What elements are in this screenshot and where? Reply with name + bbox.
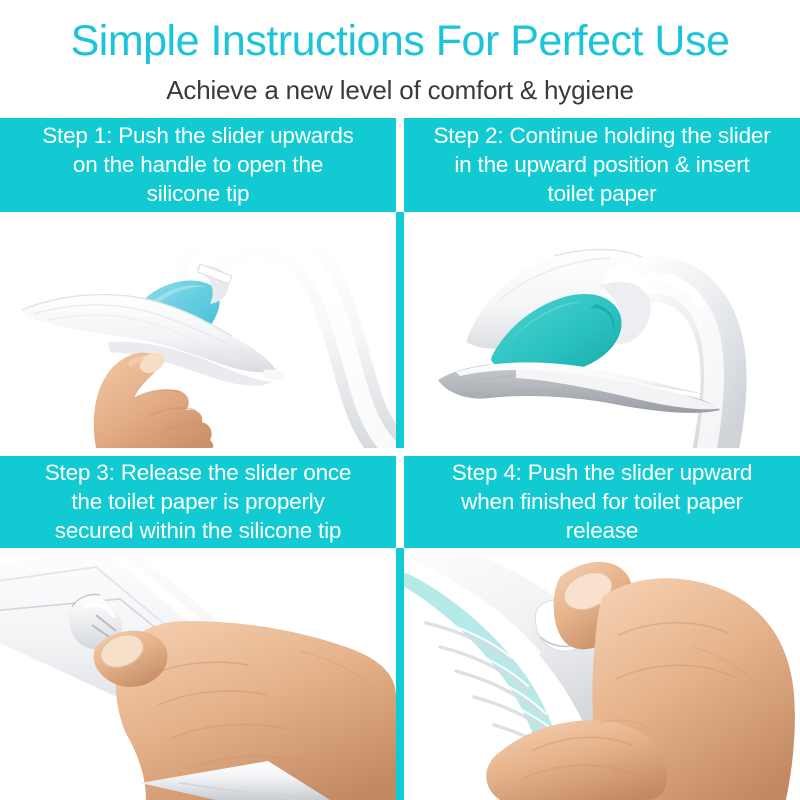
step-1-photo <box>0 220 396 448</box>
step-1-text: Step 1: Push the slider upwards on the h… <box>42 121 353 208</box>
step-4-photo <box>404 555 800 800</box>
step-4-banner: Step 4: Push the slider upward when fini… <box>404 456 800 548</box>
step-3-banner: Step 3: Release the slider once the toil… <box>0 456 396 548</box>
step-2-text: Step 2: Continue holding the slider in t… <box>434 121 771 208</box>
step-1-banner: Step 1: Push the slider upwards on the h… <box>0 118 396 212</box>
step-2-banner: Step 2: Continue holding the slider in t… <box>404 118 800 212</box>
step-2-photo <box>404 220 800 448</box>
step-3-text: Step 3: Release the slider once the toil… <box>45 458 352 545</box>
step-2-illustration <box>404 220 800 448</box>
step-3-photo <box>0 555 396 800</box>
page-subtitle: Achieve a new level of comfort & hygiene <box>0 74 800 106</box>
step-1-illustration <box>0 220 396 448</box>
page-title: Simple Instructions For Perfect Use <box>0 16 800 66</box>
infographic-page: Simple Instructions For Perfect Use Achi… <box>0 0 800 800</box>
step-4-image <box>404 555 800 800</box>
step-3-image <box>0 555 396 800</box>
step-4-text: Step 4: Push the slider upward when fini… <box>452 458 752 545</box>
step-3-illustration <box>0 555 396 800</box>
step-4-banner-bg: Step 4: Push the slider upward when fini… <box>404 456 800 548</box>
vertical-divider-gap-top <box>396 118 404 212</box>
step-3-banner-bg: Step 3: Release the slider once the toil… <box>0 456 396 548</box>
step-1-image <box>0 220 396 448</box>
step-2-banner-bg: Step 2: Continue holding the slider in t… <box>404 118 800 212</box>
vertical-divider-gap-middle <box>396 448 404 548</box>
step-4-illustration <box>404 555 800 800</box>
step-2-image <box>404 220 800 448</box>
steps-grid: Step 1: Push the slider upwards on the h… <box>0 118 800 800</box>
step-1-banner-bg: Step 1: Push the slider upwards on the h… <box>0 118 396 212</box>
header: Simple Instructions For Perfect Use Achi… <box>0 0 800 118</box>
